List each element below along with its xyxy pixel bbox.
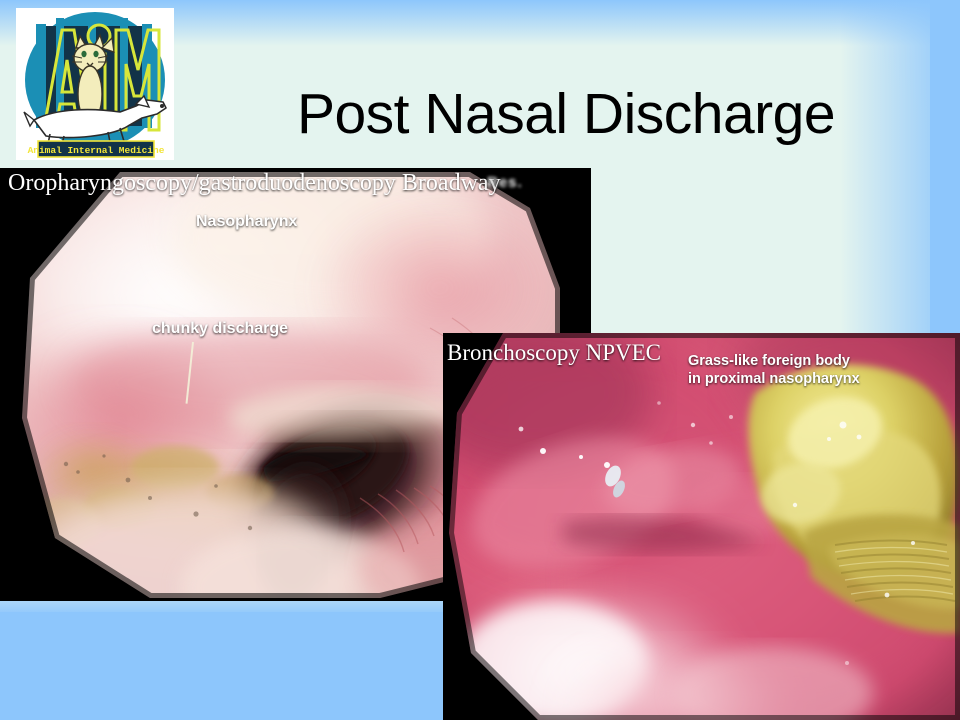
page-title: Post Nasal Discharge xyxy=(186,86,946,143)
bronchoscopy-photo: Bronchoscopy NPVEC Grass-like foreign bo… xyxy=(443,333,960,720)
slide: Animal Internal Medicine Post Nasal Disc… xyxy=(0,0,960,720)
bronchoscopy-image xyxy=(443,333,960,720)
aim-logo-graphic: Animal Internal Medicine xyxy=(16,8,174,160)
aim-logo: Animal Internal Medicine xyxy=(16,8,174,160)
aim-logo-caption: Animal Internal Medicine xyxy=(28,145,165,156)
